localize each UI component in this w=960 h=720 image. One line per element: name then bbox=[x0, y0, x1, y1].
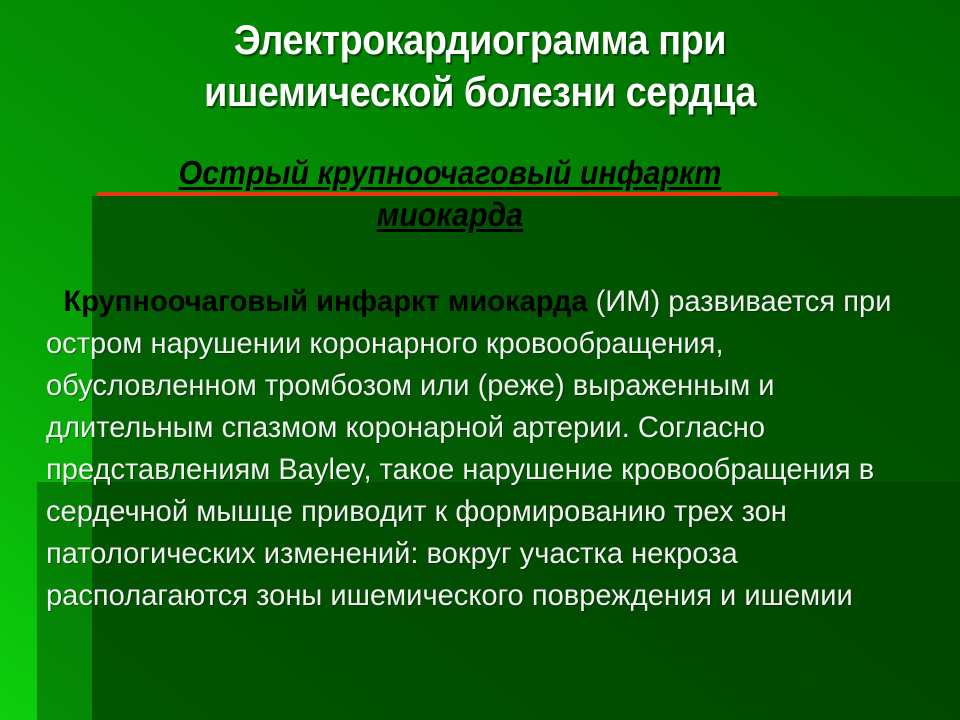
slide-title: Электрокардиограмма при ишемической боле… bbox=[48, 14, 912, 118]
accent-underline-rule bbox=[97, 192, 778, 196]
body-lead-term: Крупноочаговый инфаркт миокарда bbox=[63, 285, 587, 318]
slide-body-text: Крупноочаговый инфаркт миокарда (ИМ) раз… bbox=[46, 281, 919, 617]
body-remaining-text: (ИМ) развивается при остром нарушении ко… bbox=[46, 285, 891, 612]
presentation-slide: Электрокардиограмма при ишемической боле… bbox=[0, 0, 960, 720]
